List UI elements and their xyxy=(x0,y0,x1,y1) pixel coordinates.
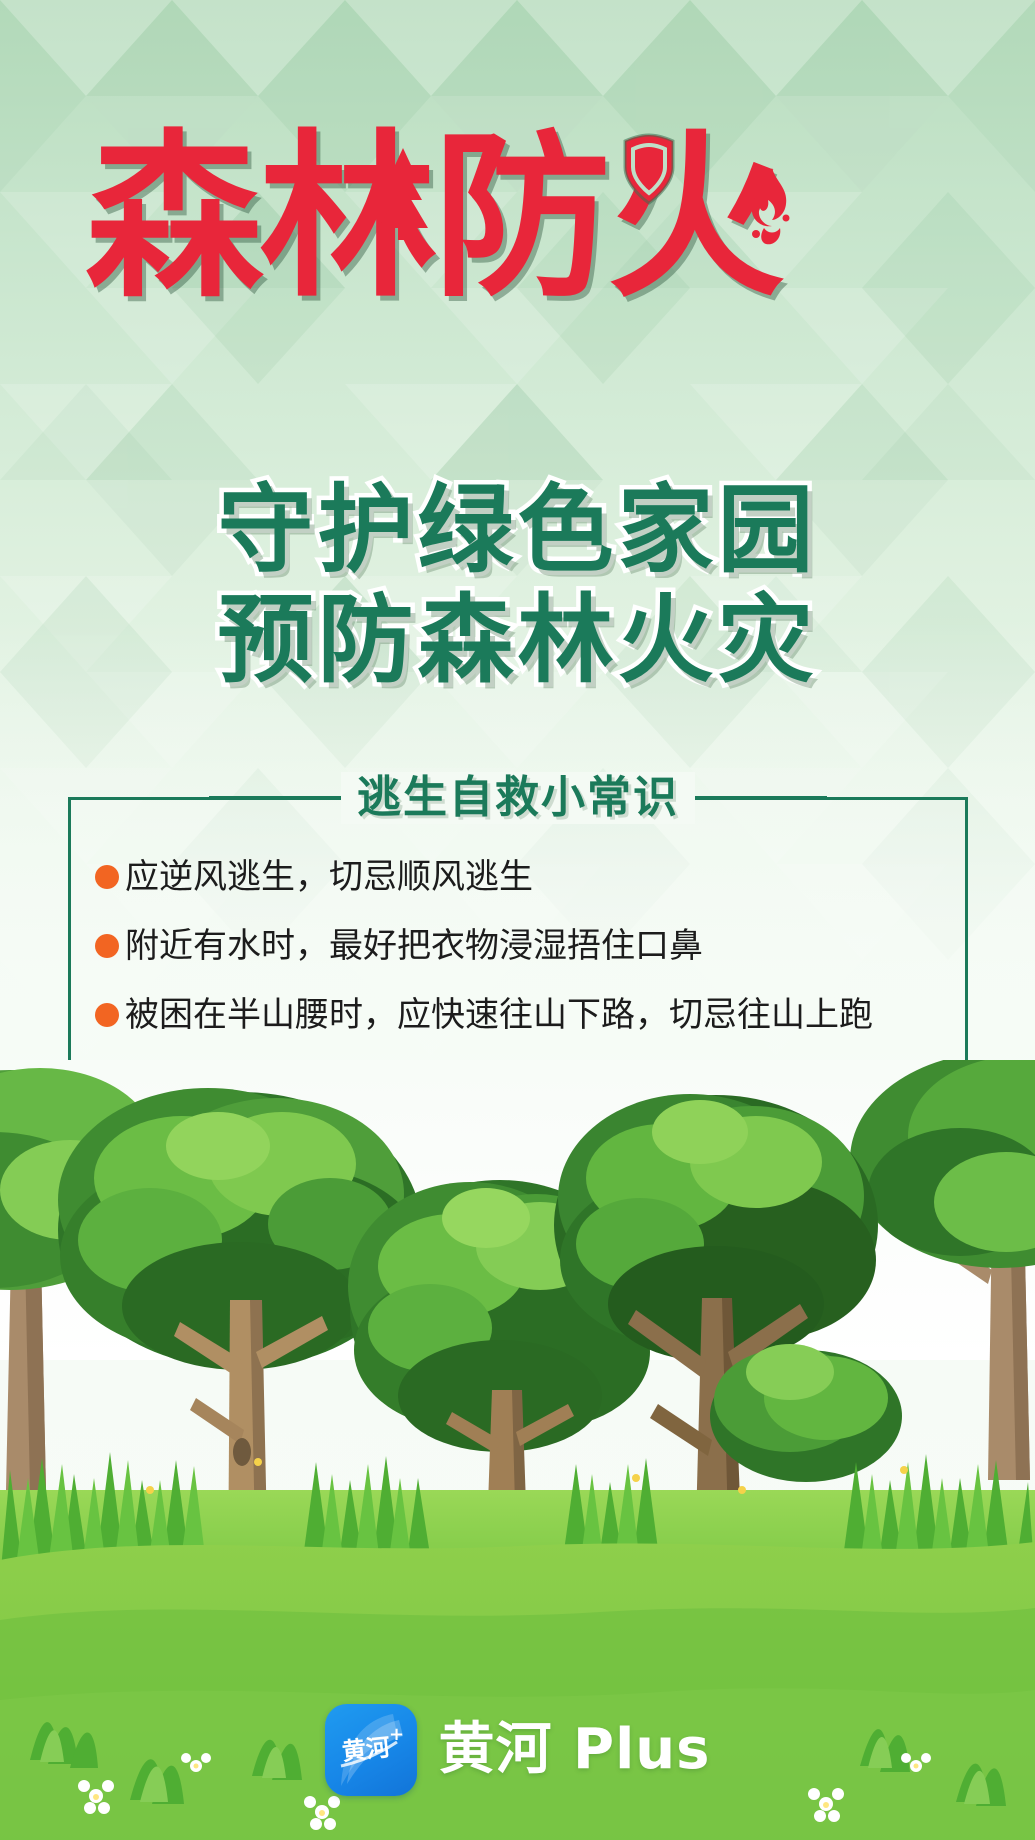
footer-brand[interactable]: 黄河 + 黄河 Plus xyxy=(0,1690,1035,1810)
bullet-dot-icon xyxy=(95,1003,119,1027)
poster-canvas: 森林防火 守护绿色家园 预防森林火灾 逃生自救小常识 应逆风逃生，切忌顺风 xyxy=(0,0,1035,1840)
tip-text: 附近有水时，最好把衣物浸湿捂住口鼻 xyxy=(125,924,703,968)
main-title-block: 森林防火 xyxy=(0,118,1035,348)
tips-panel-header: 逃生自救小常识 xyxy=(68,769,968,827)
brand-name: 黄河 Plus xyxy=(439,1718,711,1782)
subtitle-line-1: 守护绿色家园 xyxy=(0,478,1035,582)
tip-text: 被困在半山腰时，应快速往山下路，切忌往山上跑 xyxy=(125,993,873,1037)
header-rule-right xyxy=(695,796,827,800)
pine-tree-icon xyxy=(370,148,436,240)
shield-icon xyxy=(617,133,681,207)
bullet-dot-icon xyxy=(95,865,119,889)
tip-text: 应逆风逃生，切忌顺风逃生 xyxy=(125,855,533,899)
app-icon[interactable]: 黄河 + xyxy=(325,1704,417,1796)
subtitle-line-2: 预防森林火灾 xyxy=(0,588,1035,692)
flame-icon xyxy=(742,168,798,246)
list-item: 被困在半山腰时，应快速往山下路，切忌往山上跑 xyxy=(95,983,965,1047)
section-heading: 逃生自救小常识 xyxy=(341,772,695,824)
app-icon-art: 黄河 + xyxy=(325,1704,417,1796)
list-item: 附近有水时，最好把衣物浸湿捂住口鼻 xyxy=(95,914,965,978)
list-item: 应逆风逃生，切忌顺风逃生 xyxy=(95,845,965,909)
header-rule-left xyxy=(209,796,341,800)
bullet-dot-icon xyxy=(95,934,119,958)
